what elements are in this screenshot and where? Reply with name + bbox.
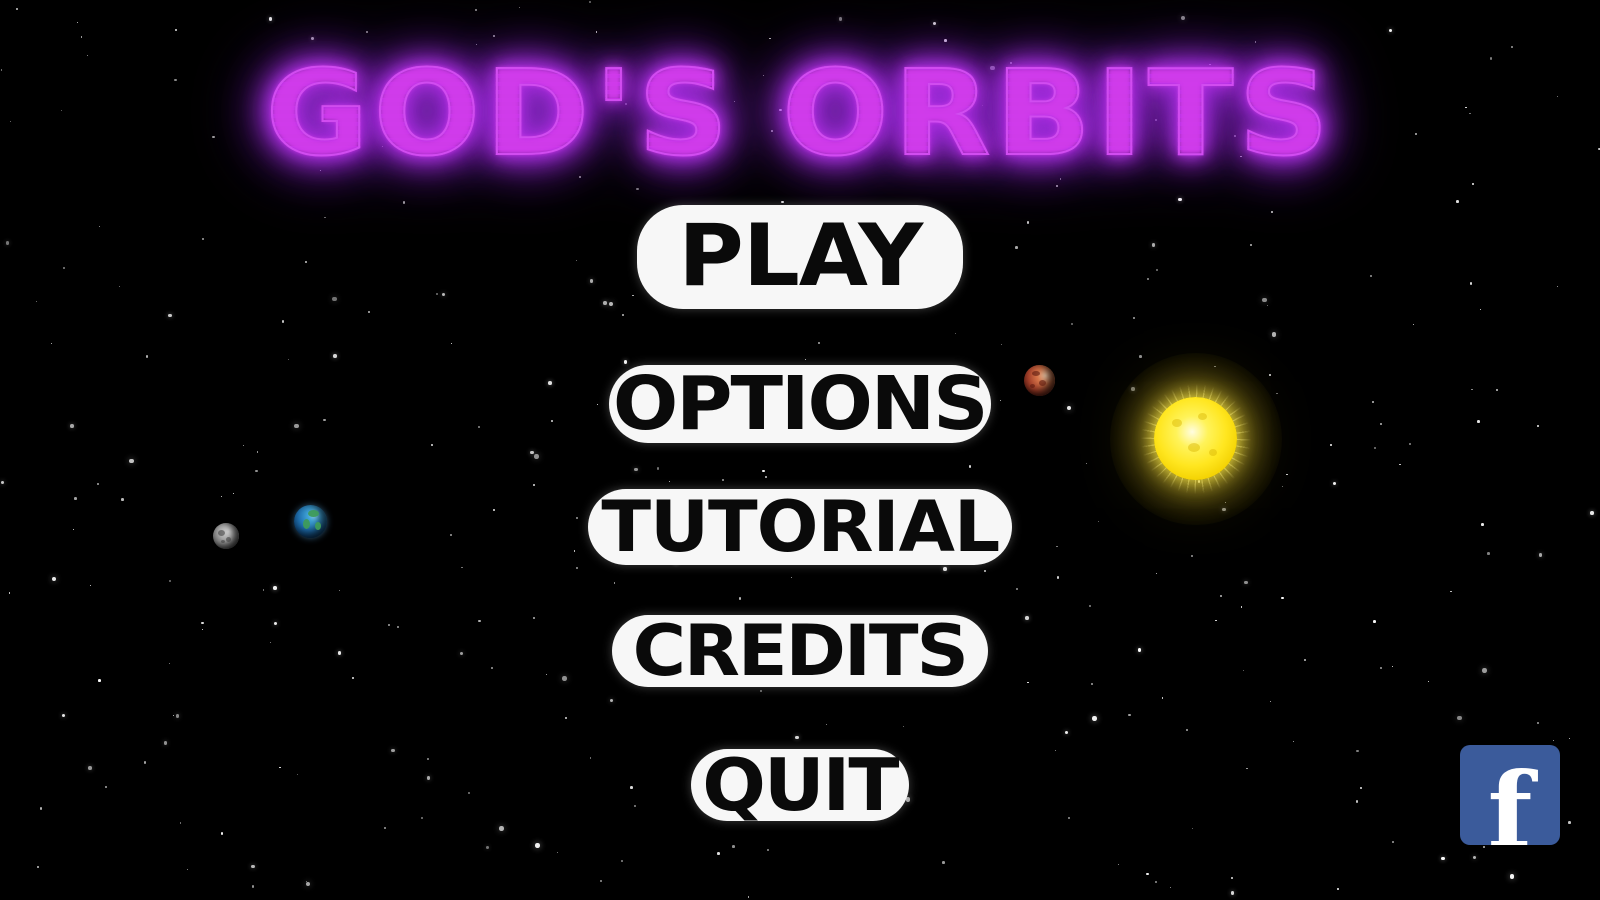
star bbox=[942, 861, 945, 864]
star bbox=[1337, 888, 1339, 890]
star bbox=[251, 865, 255, 869]
star bbox=[557, 852, 558, 853]
star bbox=[1456, 200, 1459, 203]
star bbox=[306, 881, 307, 882]
star bbox=[1192, 828, 1193, 829]
star bbox=[933, 22, 937, 26]
star bbox=[589, 1, 592, 4]
title-banner: GOD'S ORBITS GOD'S ORBITS bbox=[0, 38, 1600, 188]
credits-button-label: CREDITS bbox=[633, 619, 967, 683]
star bbox=[1181, 16, 1186, 21]
options-button[interactable]: OPTIONS bbox=[609, 365, 991, 443]
star bbox=[1178, 198, 1182, 202]
star bbox=[839, 17, 843, 21]
star bbox=[486, 846, 490, 850]
star bbox=[499, 826, 504, 831]
star bbox=[384, 827, 386, 829]
facebook-glyph: f bbox=[1460, 759, 1560, 845]
star bbox=[475, 9, 478, 12]
star bbox=[221, 832, 224, 835]
play-button-label: PLAY bbox=[678, 217, 922, 296]
star bbox=[37, 866, 39, 868]
star bbox=[1510, 874, 1515, 879]
star bbox=[781, 201, 784, 204]
star bbox=[600, 880, 603, 883]
star bbox=[1392, 841, 1393, 842]
star bbox=[1155, 881, 1157, 883]
star bbox=[535, 843, 540, 848]
star bbox=[16, 8, 18, 10]
credits-button[interactable]: CREDITS bbox=[612, 615, 988, 687]
star bbox=[77, 22, 78, 23]
star bbox=[621, 860, 623, 862]
star bbox=[1170, 887, 1171, 888]
star bbox=[1118, 864, 1119, 865]
star bbox=[1473, 856, 1477, 860]
game-screen: GOD'S ORBITS GOD'S ORBITS PLAY OPTIONS T… bbox=[0, 0, 1600, 900]
main-menu: PLAY OPTIONS TUTORIAL CREDITS QUIT bbox=[0, 205, 1600, 821]
star bbox=[1231, 891, 1235, 895]
star bbox=[269, 17, 273, 21]
star bbox=[493, 35, 495, 37]
star bbox=[596, 31, 598, 33]
tutorial-button-label: TUTORIAL bbox=[601, 495, 999, 559]
star bbox=[1441, 857, 1445, 861]
star bbox=[1483, 846, 1485, 848]
star bbox=[732, 845, 735, 848]
quit-button-label: QUIT bbox=[702, 752, 897, 818]
star bbox=[1568, 821, 1571, 824]
star bbox=[180, 822, 182, 824]
star bbox=[403, 201, 406, 204]
star bbox=[1146, 873, 1149, 876]
star bbox=[767, 849, 769, 851]
star bbox=[1389, 29, 1393, 33]
game-title: GOD'S ORBITS bbox=[266, 54, 1334, 172]
quit-button[interactable]: QUIT bbox=[691, 749, 909, 821]
options-button-label: OPTIONS bbox=[613, 370, 987, 438]
star bbox=[1231, 877, 1233, 879]
star bbox=[175, 29, 178, 32]
star bbox=[748, 896, 749, 897]
star bbox=[366, 31, 369, 34]
tutorial-button[interactable]: TUTORIAL bbox=[588, 489, 1012, 565]
star bbox=[519, 7, 521, 9]
play-button[interactable]: PLAY bbox=[637, 205, 963, 309]
star bbox=[252, 885, 255, 888]
facebook-icon[interactable]: f bbox=[1460, 745, 1560, 845]
star bbox=[717, 852, 720, 855]
star bbox=[306, 882, 311, 887]
star bbox=[187, 869, 188, 870]
